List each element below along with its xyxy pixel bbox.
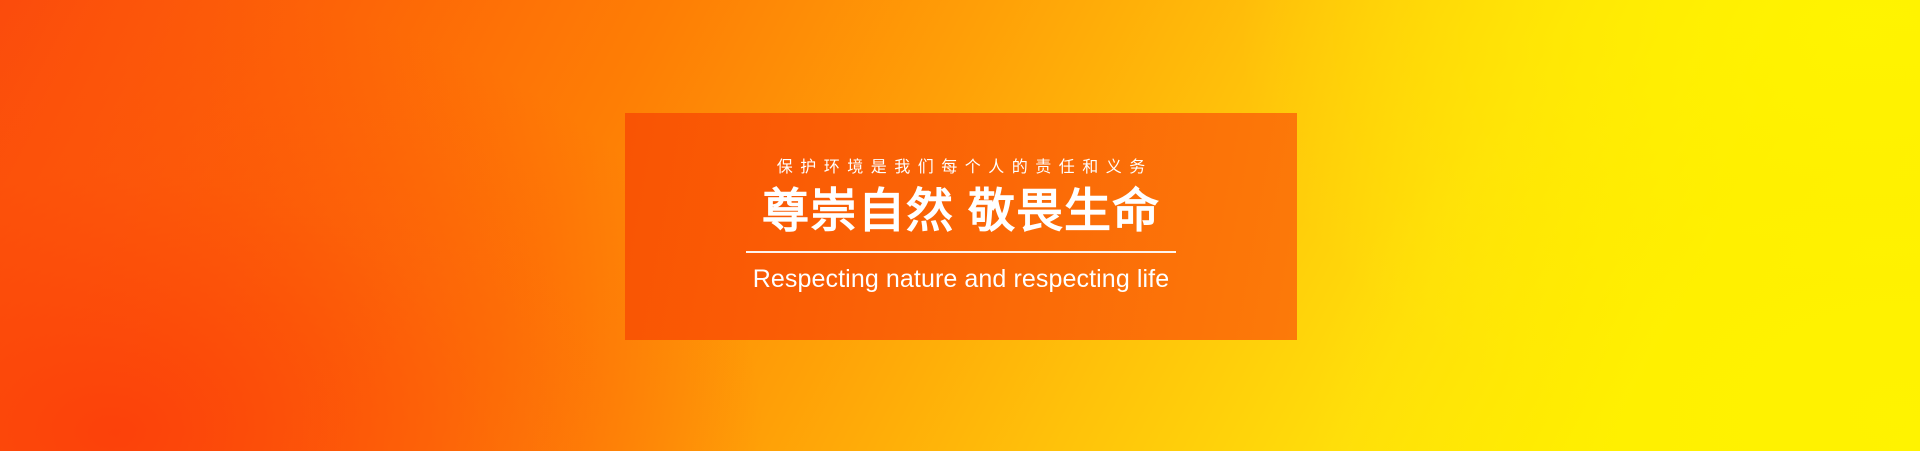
environment-slogan-banner: 保护环境是我们每个人的责任和义务 尊崇自然 敬畏生命 Respecting na… — [0, 0, 1920, 451]
slogan-eyebrow-text: 保护环境是我们每个人的责任和义务 — [769, 160, 1153, 176]
slogan-divider — [746, 251, 1176, 253]
slogan-content: 保护环境是我们每个人的责任和义务 尊崇自然 敬畏生命 Respecting na… — [746, 160, 1176, 293]
slogan-headline-text: 尊崇自然 敬畏生命 — [762, 186, 1160, 237]
slogan-plaque: 保护环境是我们每个人的责任和义务 尊崇自然 敬畏生命 Respecting na… — [625, 113, 1297, 340]
slogan-subline-text: Respecting nature and respecting life — [753, 266, 1169, 294]
